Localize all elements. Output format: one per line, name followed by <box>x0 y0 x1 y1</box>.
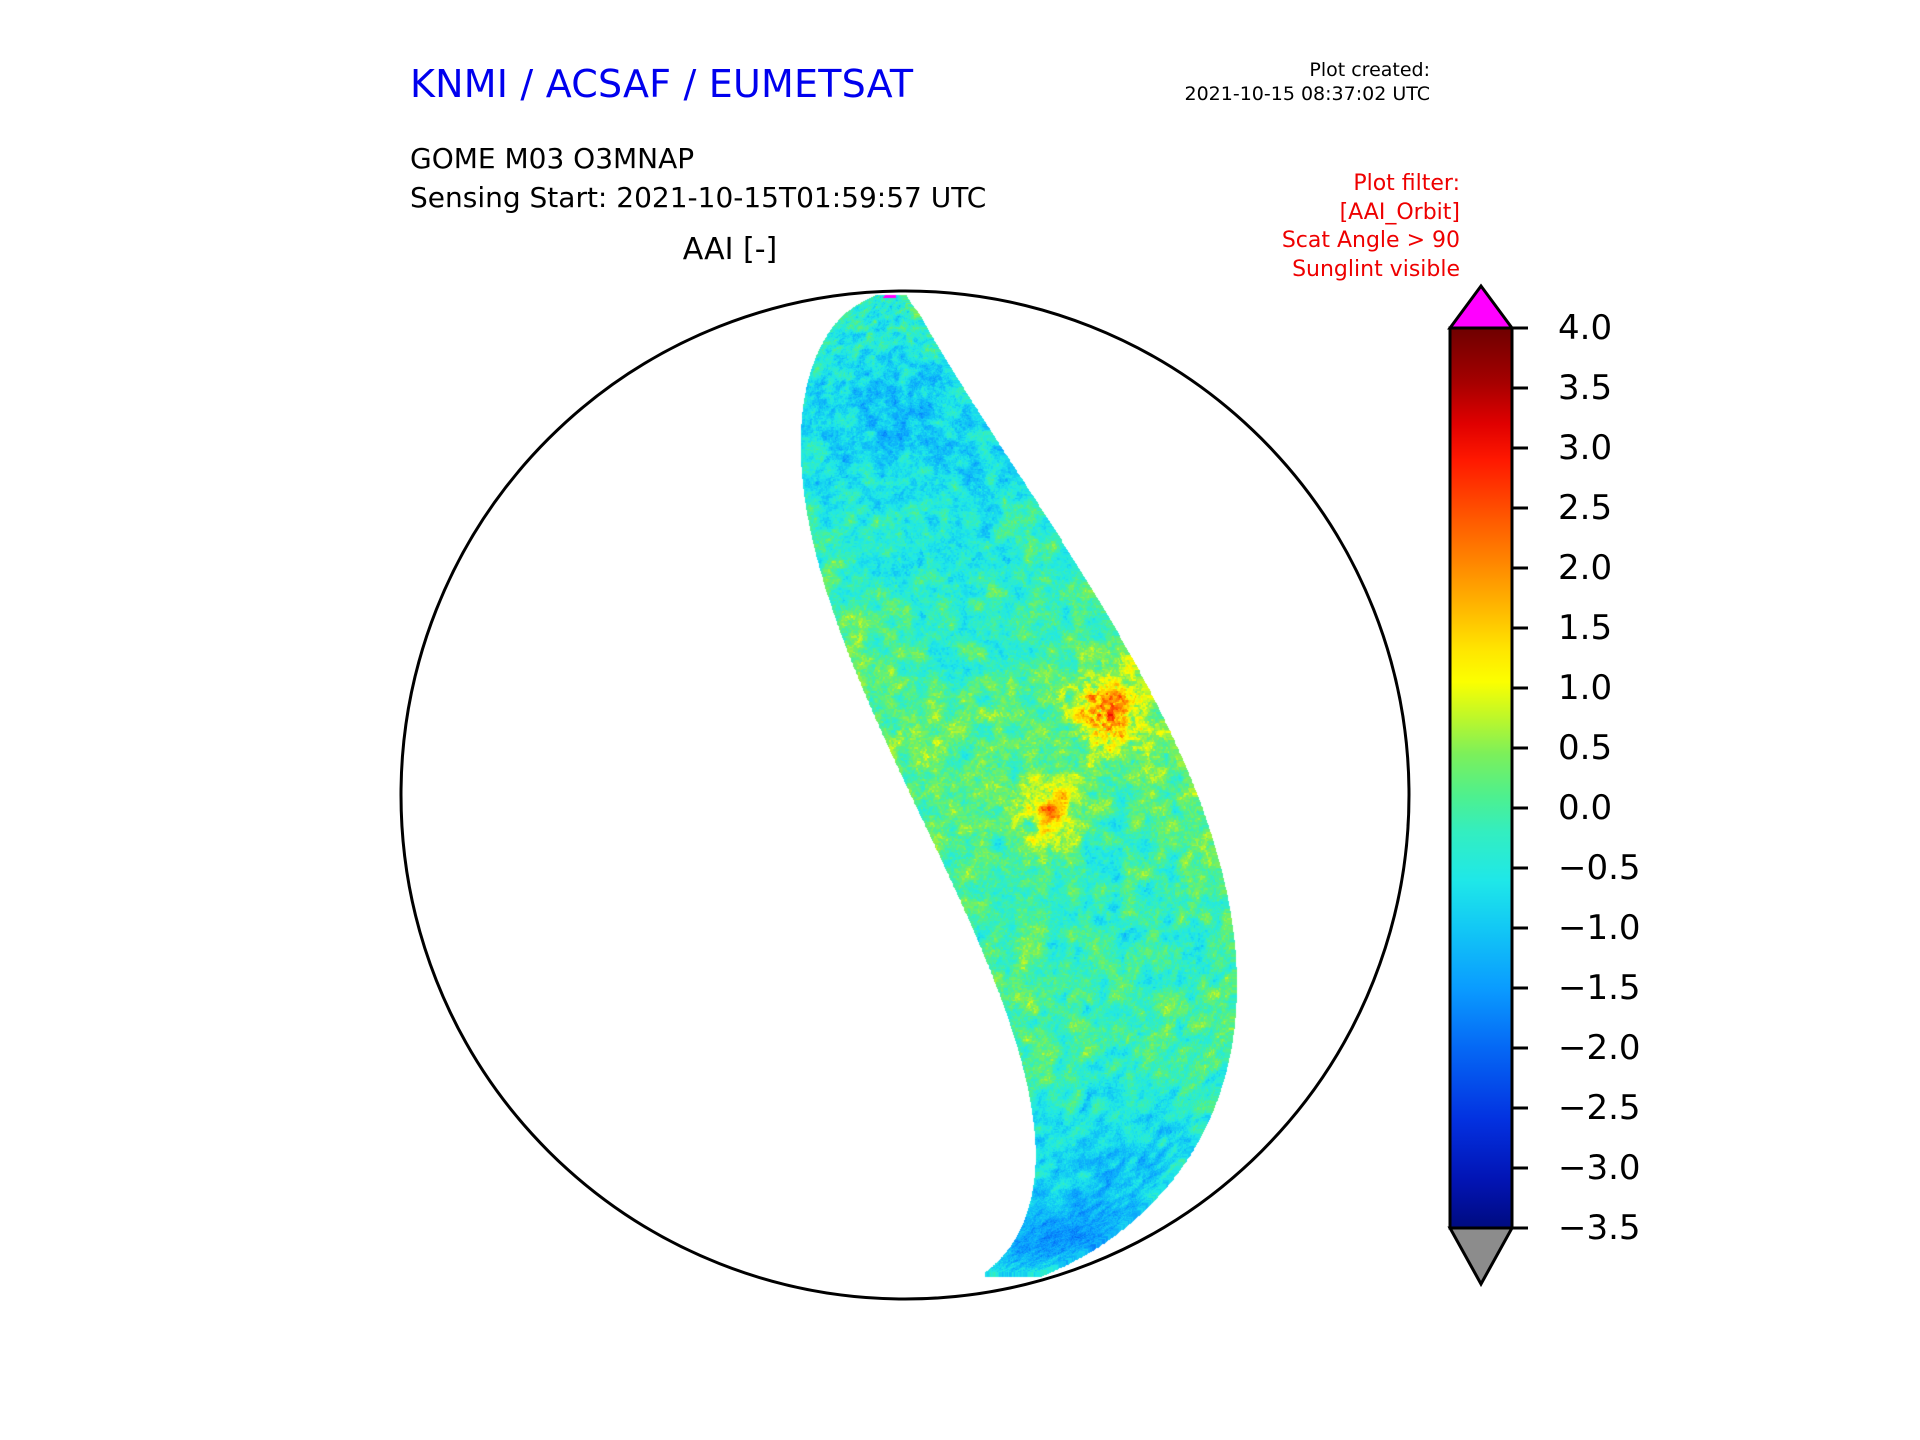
colorbar-tick-label: −3.0 <box>1558 1148 1641 1188</box>
colorbar-tick-label: −1.0 <box>1558 908 1641 948</box>
colorbar-over-arrow <box>1450 286 1512 328</box>
colorbar-tick-label: 2.0 <box>1558 548 1612 588</box>
plot-filter-line-1: [AAI_Orbit] <box>1282 199 1460 228</box>
colorbar-tick-label: −2.0 <box>1558 1028 1641 1068</box>
plot-canvas: KNMI / ACSAF / EUMETSAT Plot created: 20… <box>0 0 1920 1440</box>
organization-title: KNMI / ACSAF / EUMETSAT <box>410 62 913 106</box>
instrument-product-title: GOME M03 O3MNAP <box>410 140 986 179</box>
colorbar-ticks <box>1512 328 1528 1228</box>
colorbar-tick-label: −2.5 <box>1558 1088 1641 1128</box>
globe-limb-circle <box>401 291 1409 1299</box>
colorbar-under-arrow <box>1450 1228 1512 1284</box>
plot-filter-line-2: Scat Angle > 90 <box>1282 227 1460 256</box>
colorbar-tick-label: 4.0 <box>1558 308 1612 348</box>
colorbar-tick-label: 1.5 <box>1558 608 1612 648</box>
plot-created-block: Plot created: 2021-10-15 08:37:02 UTC <box>1185 58 1431 107</box>
globe-map <box>390 280 1420 1310</box>
globe-outline-layer <box>390 280 1420 1310</box>
quantity-label: AAI [-] <box>0 232 1460 267</box>
plot-created-timestamp: 2021-10-15 08:37:02 UTC <box>1185 82 1431 106</box>
sensing-start-title: Sensing Start: 2021-10-15T01:59:57 UTC <box>410 179 986 218</box>
plot-filter-block: Plot filter: [AAI_Orbit] Scat Angle > 90… <box>1282 170 1460 284</box>
colorbar-tick-label: 0.0 <box>1558 788 1612 828</box>
colorbar-tick-label: −3.5 <box>1558 1208 1641 1248</box>
colorbar-gradient-bar <box>1450 328 1512 1228</box>
colorbar-tick-label: −0.5 <box>1558 848 1641 888</box>
colorbar-tick-label: −1.5 <box>1558 968 1641 1008</box>
colorbar-tick-label: 0.5 <box>1558 728 1612 768</box>
plot-filter-line-0: Plot filter: <box>1282 170 1460 199</box>
colorbar: 4.03.53.02.52.01.51.00.50.0−0.5−1.0−1.5−… <box>1440 280 1780 1320</box>
plot-created-label: Plot created: <box>1185 58 1431 82</box>
colorbar-tick-label: 3.0 <box>1558 428 1612 468</box>
plot-title-block: GOME M03 O3MNAP Sensing Start: 2021-10-1… <box>410 140 986 217</box>
colorbar-tick-label: 1.0 <box>1558 668 1612 708</box>
colorbar-tick-label: 3.5 <box>1558 368 1612 408</box>
colorbar-tick-label: 2.5 <box>1558 488 1612 528</box>
